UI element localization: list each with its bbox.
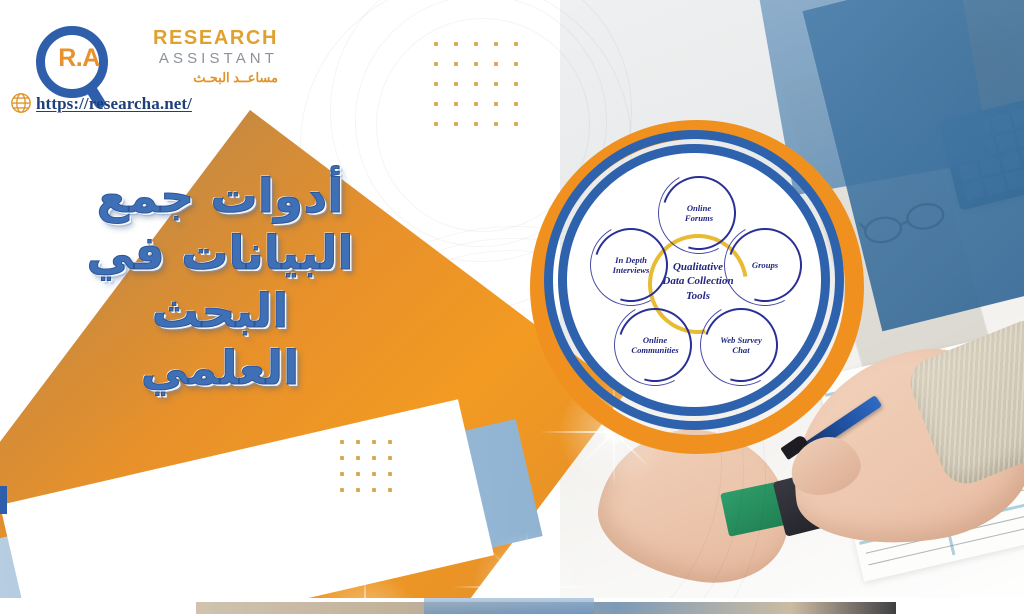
node-label-line-1: Online <box>643 335 667 345</box>
node-label-line-1: Groups <box>752 260 778 270</box>
node-label-line-1: Online <box>687 203 711 213</box>
title-line-4: العلمي <box>40 340 400 397</box>
globe-icon <box>10 92 32 114</box>
title-line-3: البحث <box>40 283 400 340</box>
qualitative-tools-diagram: Qualitative Data Collection Tools Online… <box>522 112 872 462</box>
node-label-line-2: Chat <box>732 345 749 355</box>
diagram-node-in-depth-interviews[interactable]: In Depth Interviews <box>594 228 668 302</box>
brand-line-assistant: ASSISTANT <box>118 49 278 69</box>
brand-line-research: RESEARCH <box>118 28 278 49</box>
node-label-line-2: Forums <box>685 213 713 223</box>
bottom-blue-strip <box>424 598 594 614</box>
dot-grid-top <box>434 42 534 142</box>
node-label: In Depth Interviews <box>594 228 668 302</box>
node-label: Online Forums <box>662 176 736 250</box>
node-label: Web Survey Chat <box>704 308 778 382</box>
diagram-node-online-forums[interactable]: Online Forums <box>662 176 736 250</box>
website-link[interactable]: https://researcha.net/ <box>10 92 192 114</box>
title-line-1: أدوات جمع <box>40 168 400 225</box>
dot-grid-title <box>340 440 404 504</box>
brand-line-arabic: مساعــد البحـث <box>118 69 278 87</box>
node-label: Online Communities <box>618 308 692 382</box>
bottom-image-sliver <box>0 598 1024 614</box>
left-edge-blue-tab <box>0 486 7 514</box>
brand-text-block: RESEARCH ASSISTANT مساعــد البحـث <box>118 28 278 87</box>
node-label-line-2: Communities <box>631 345 678 355</box>
logo[interactable]: R.A RESEARCH ASSISTANT مساعــد البحـث <box>18 24 278 136</box>
banner-canvas: R.A RESEARCH ASSISTANT مساعــد البحـث ht… <box>0 0 1024 614</box>
diagram-node-online-communities[interactable]: Online Communities <box>618 308 692 382</box>
website-url-text[interactable]: https://researcha.net/ <box>36 95 192 112</box>
title-line-2: البيانات في <box>40 225 400 282</box>
node-label-line-1: In Depth <box>615 255 647 265</box>
node-label-line-2: Interviews <box>613 265 650 275</box>
diagram-node-web-survey-chat[interactable]: Web Survey Chat <box>704 308 778 382</box>
logo-monogram: R.A <box>43 46 115 71</box>
node-label-line-1: Web Survey <box>720 335 762 345</box>
diagram-node-groups[interactable]: Groups <box>728 228 802 302</box>
node-label: Groups <box>728 228 802 302</box>
page-title: أدوات جمع البيانات في البحث العلمي <box>40 168 400 397</box>
